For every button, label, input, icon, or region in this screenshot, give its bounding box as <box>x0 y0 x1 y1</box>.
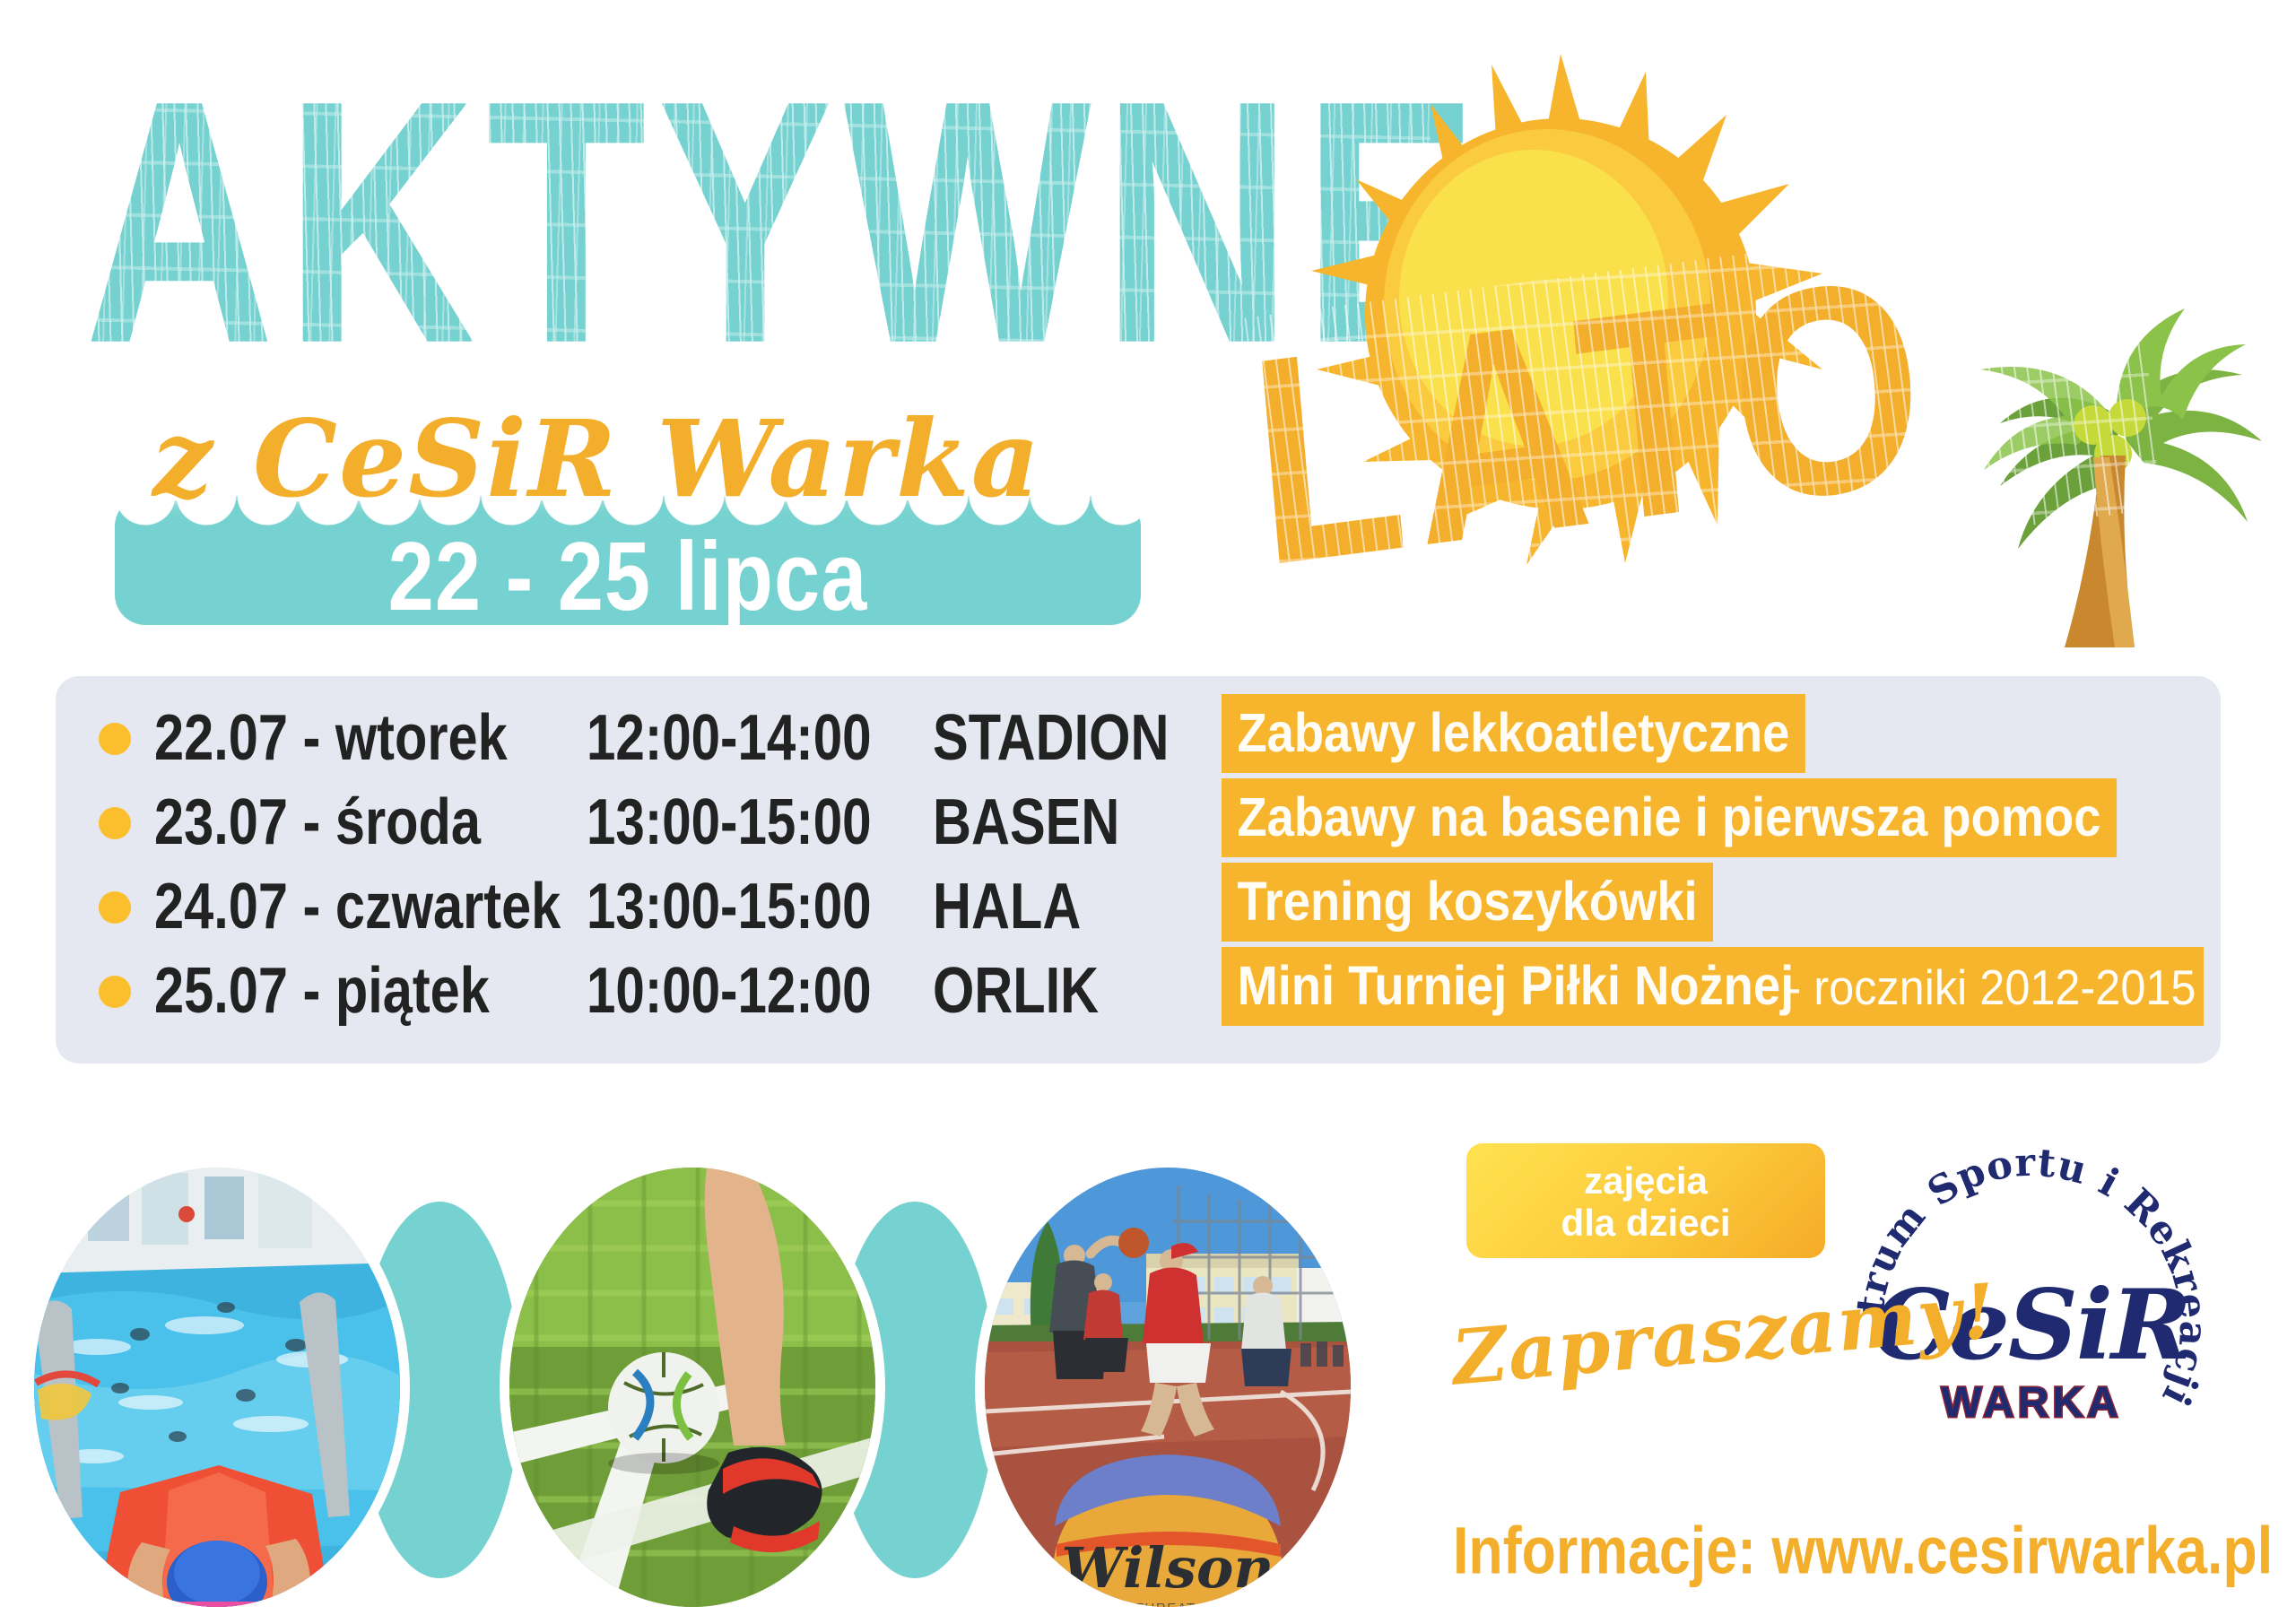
activity-main: Trening koszykówki <box>1237 870 1697 932</box>
schedule-activity: Mini Turniej Piłki Nożnej - roczniki 201… <box>1222 947 2204 1026</box>
bullet-dot-icon <box>99 976 131 1008</box>
activity-suffix: - roczniki 2012-2015 <box>1786 955 2196 1020</box>
subtitle-script: z CeSiR Warka <box>152 396 1041 521</box>
schedule-venue: HALA <box>933 870 1182 943</box>
schedule-date: 24.07 - czwartek <box>154 870 516 943</box>
schedule-time: 10:00-12:00 <box>587 954 890 1028</box>
badge-line-1: zajęcia <box>1584 1159 1708 1202</box>
schedule-activity: Zabawy lekkoatletyczne <box>1222 694 1805 773</box>
svg-text:Wilson: Wilson <box>1062 1535 1274 1601</box>
footer-info[interactable]: Informacje: www.cesirwarka.pl <box>1453 1512 2273 1588</box>
photo-swimming-pool <box>34 1168 400 1607</box>
schedule-time: 13:00-15:00 <box>587 786 890 859</box>
schedule-activity: Zabawy na basenie i pierwsza pomoc <box>1222 778 2117 857</box>
poster-header: AKTYWNE LATO z CeSiR Warka 22 - 25 lipca <box>0 0 2296 682</box>
activity-main: Zabawy na basenie i pierwsza pomoc <box>1237 786 2100 847</box>
activity-main: Mini Turniej Piłki Nożnej <box>1237 954 1794 1016</box>
schedule-row: 23.07 - środa 13:00-15:00 BASEN Zabawy n… <box>56 782 2221 861</box>
schedule-date: 25.07 - piątek <box>154 954 516 1028</box>
badge-line-2: dla dzieci <box>1561 1202 1730 1244</box>
schedule-date: 23.07 - środa <box>154 786 516 859</box>
activity-main: Zabawy lekkoatletyczne <box>1237 701 1789 763</box>
palm-tree-icon <box>1901 278 2287 655</box>
schedule-row: 24.07 - czwartek 13:00-15:00 HALA Trenin… <box>56 866 2221 945</box>
schedule-panel: 22.07 - wtorek 12:00-14:00 STADION Zabaw… <box>56 676 2221 1064</box>
title-accent-lato: LATO <box>1242 231 1944 612</box>
schedule-time: 13:00-15:00 <box>587 870 890 943</box>
schedule-row: 25.07 - piątek 10:00-12:00 ORLIK Mini Tu… <box>56 951 2221 1029</box>
bullet-dot-icon <box>99 891 131 924</box>
photo-basketball-court: Wilson WAVE TRIPLE THREAT TECHNOLOGY <box>985 1168 1351 1607</box>
date-range-label: 22 - 25 lipca <box>115 528 1141 626</box>
bullet-dot-icon <box>99 807 131 839</box>
schedule-activity: Trening koszykówki <box>1222 863 1713 942</box>
kids-activities-badge: zajęcia dla dzieci <box>1466 1143 1825 1258</box>
badge-text: zajęcia dla dzieci <box>1466 1159 1825 1244</box>
photo-football-pitch <box>509 1168 875 1607</box>
schedule-venue: STADION <box>933 701 1182 775</box>
schedule-time: 12:00-14:00 <box>587 701 890 775</box>
schedule-venue: BASEN <box>933 786 1182 859</box>
schedule-venue: ORLIK <box>933 954 1182 1028</box>
schedule-date: 22.07 - wtorek <box>154 701 516 775</box>
schedule-row: 22.07 - wtorek 12:00-14:00 STADION Zabaw… <box>56 698 2221 777</box>
svg-text:WAVE TRIPLE THREAT TECHNOLOGY: WAVE TRIPLE THREAT TECHNOLOGY <box>1027 1601 1309 1607</box>
bullet-dot-icon <box>99 723 131 755</box>
logo-city: WARKA <box>1843 1378 2220 1428</box>
